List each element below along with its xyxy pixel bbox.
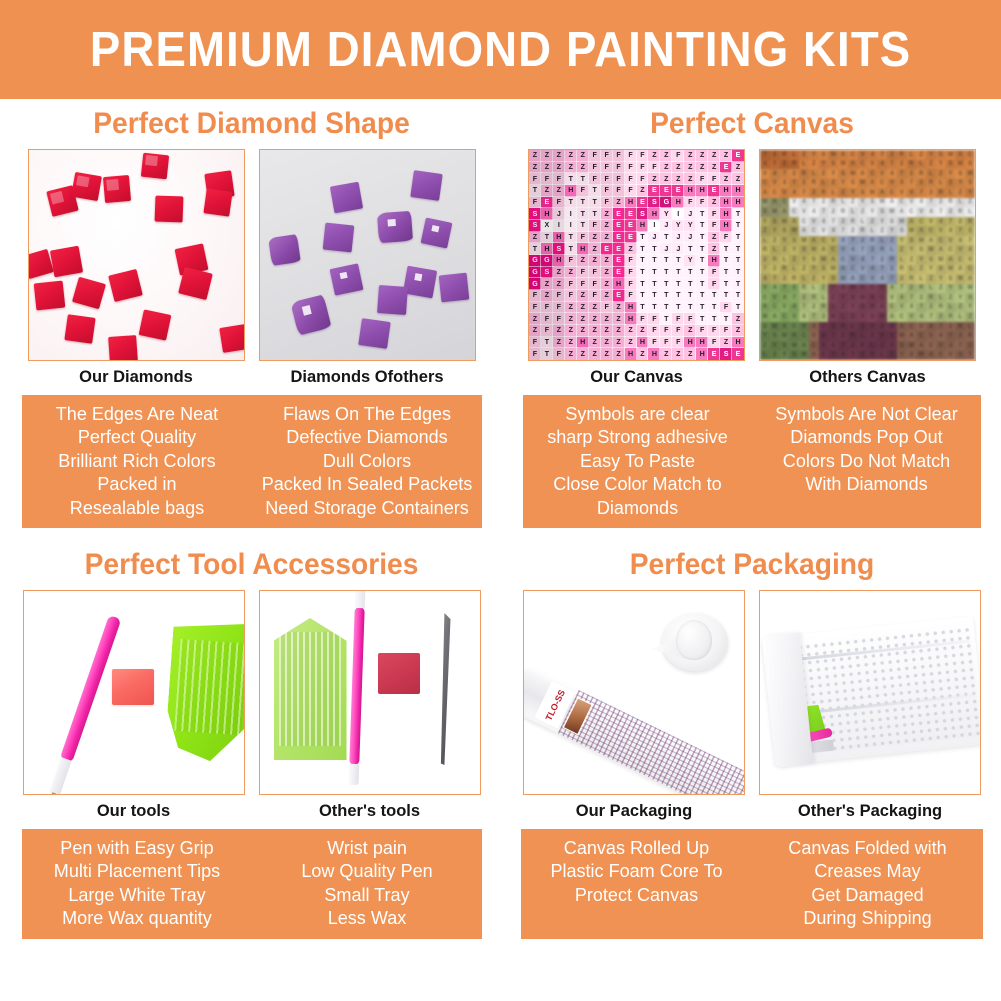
canvas-cell-blurred: V <box>867 274 877 284</box>
canvas-cell-blurred: Y <box>819 274 829 284</box>
canvas-cell-blurred: 4 <box>799 312 809 322</box>
canvas-cell: F <box>720 325 732 337</box>
canvas-cell-blurred: Y <box>867 207 877 217</box>
canvas-cell: F <box>625 173 637 185</box>
canvas-cell-blurred: C <box>887 303 897 313</box>
canvas-cell: J <box>672 232 684 244</box>
canvas-cell: E <box>613 208 625 220</box>
canvas-cell-blurred: R <box>819 303 829 313</box>
canvas-cell-blurred: Y <box>887 341 897 351</box>
canvas-cell-blurred: L <box>809 169 819 179</box>
canvas-cell-blurred: V <box>858 265 868 275</box>
section-tool-accessories: Perfect Tool Accessories <box>0 540 503 1001</box>
canvas-cell-blurred: M <box>838 160 848 170</box>
canvas-cell-blurred: Y <box>819 160 829 170</box>
canvas-cell: S <box>529 220 541 232</box>
canvas-cell-blurred: L <box>799 274 809 284</box>
canvas-cell-blurred: V <box>819 341 829 351</box>
canvas-cell-blurred: L <box>828 188 838 198</box>
canvas-cell: H <box>648 348 660 360</box>
canvas-cell-blurred: Y <box>848 303 858 313</box>
canvas-cell-blurred: 7 <box>936 322 946 332</box>
canvas-cell-blurred: Y <box>916 255 926 265</box>
canvas-cell: Z <box>601 348 613 360</box>
points-others-tools: Wrist pain Low Quality Pen Small Tray Le… <box>255 829 478 939</box>
canvas-cell: E <box>648 185 660 197</box>
canvas-cell-blurred: Y <box>780 236 790 246</box>
canvas-cell-blurred: C <box>965 150 975 160</box>
canvas-cell-blurred: L <box>760 236 770 246</box>
canvas-cell: T <box>637 278 649 290</box>
canvas-cell: S <box>541 267 553 279</box>
canvas-cell-blurred: R <box>936 303 946 313</box>
canvas-cell-blurred: M <box>887 322 897 332</box>
canvas-cell-blurred: 2 <box>916 179 926 189</box>
canvas-cell-blurred: R <box>809 293 819 303</box>
canvas-cell-blurred: L <box>897 255 907 265</box>
canvas-cell: T <box>684 267 696 279</box>
our-packaging-scene: TLO-SS <box>524 591 744 794</box>
canvas-cell: F <box>589 220 601 232</box>
canvas-cell-blurred: C <box>789 207 799 217</box>
canvas-cell-blurred: 7 <box>946 217 956 227</box>
canvas-cell-blurred: R <box>887 255 897 265</box>
canvas-cell-blurred: C <box>809 341 819 351</box>
canvas-cell-blurred: 4 <box>946 226 956 236</box>
canvas-cell: T <box>672 290 684 302</box>
canvas-cell: Z <box>565 337 577 349</box>
canvas-cell-blurred: A <box>907 331 917 341</box>
canvas-cell: F <box>529 348 541 360</box>
canvas-cell-blurred: Z <box>936 169 946 179</box>
canvas-cell-blurred: C <box>838 255 848 265</box>
canvas-cell-blurred: Y <box>877 217 887 227</box>
canvas-cell-blurred: 7 <box>780 284 790 294</box>
canvas-cell-blurred: M <box>848 284 858 294</box>
canvas-cell-blurred: V <box>916 207 926 217</box>
canvas-cell-blurred: 2 <box>819 198 829 208</box>
canvas-cell: T <box>648 267 660 279</box>
canvas-cell-blurred: 4 <box>770 284 780 294</box>
canvas-cell: Z <box>684 162 696 174</box>
canvas-cell: F <box>613 150 625 162</box>
canvas-cell: Z <box>732 173 744 185</box>
canvas-cell: J <box>684 208 696 220</box>
canvas-cell: F <box>601 150 613 162</box>
canvas-cell: F <box>577 185 589 197</box>
canvas-cell-blurred: Z <box>760 226 770 236</box>
canvas-cell-blurred: 7 <box>965 236 975 246</box>
canvas-cell-blurred: R <box>780 150 790 160</box>
canvas-cell-blurred: C <box>760 179 770 189</box>
canvas-cell-blurred: V <box>828 350 838 360</box>
canvas-cell: T <box>637 267 649 279</box>
canvas-cell-blurred: A <box>955 265 965 275</box>
canvas-cell-blurred: C <box>867 284 877 294</box>
canvas-cell-blurred: C <box>877 179 887 189</box>
canvas-cell-blurred: A <box>887 198 897 208</box>
canvas-cell: Z <box>577 313 589 325</box>
canvas-cell: T <box>696 278 708 290</box>
canvas-cell-blurred: V <box>780 188 790 198</box>
canvas-cell-blurred: 4 <box>926 207 936 217</box>
canvas-cell: E <box>613 267 625 279</box>
canvas-cell-blurred: Y <box>809 150 819 160</box>
canvas-cell: Z <box>732 325 744 337</box>
canvas-cell: Z <box>541 162 553 174</box>
canvas-cell: Z <box>625 243 637 255</box>
photo-pair-packaging: TLO-SS <box>503 590 1001 795</box>
canvas-cell: T <box>660 255 672 267</box>
canvas-cell: Y <box>684 255 696 267</box>
section-canvas: Perfect Canvas ZZZZZFFFFFZZFZZZZEZZZZZFF… <box>503 99 1001 535</box>
canvas-cell-blurred: Y <box>858 312 868 322</box>
canvas-cell: H <box>553 255 565 267</box>
canvas-cell-blurred: L <box>926 284 936 294</box>
canvas-cell-blurred: 7 <box>965 350 975 360</box>
canvas-cell-blurred: R <box>799 284 809 294</box>
canvas-cell-blurred: 7 <box>848 350 858 360</box>
canvas-cell: J <box>660 243 672 255</box>
canvas-cell: H <box>577 337 589 349</box>
canvas-cell-blurred: M <box>897 331 907 341</box>
canvas-cell: E <box>625 232 637 244</box>
canvas-cell-blurred: R <box>848 331 858 341</box>
canvas-cell: T <box>720 267 732 279</box>
canvas-cell-blurred: A <box>867 179 877 189</box>
canvas-cell: T <box>732 208 744 220</box>
canvas-cell-blurred: 7 <box>760 150 770 160</box>
canvas-cell: H <box>565 185 577 197</box>
canvas-cell-blurred: V <box>897 188 907 198</box>
canvas-cell-blurred: C <box>858 160 868 170</box>
canvas-cell-blurred: 2 <box>936 198 946 208</box>
canvas-cell: E <box>625 208 637 220</box>
canvas-cell: F <box>672 150 684 162</box>
canvas-cell: Y <box>672 220 684 232</box>
canvas-cell-blurred: 4 <box>877 160 887 170</box>
canvas-cell-blurred: Y <box>955 179 965 189</box>
canvas-cell: T <box>637 232 649 244</box>
canvas-cell-blurred: S <box>789 350 799 360</box>
canvas-cell-blurred: Z <box>877 226 887 236</box>
canvas-cell: F <box>708 325 720 337</box>
canvas-cell-blurred: R <box>838 207 848 217</box>
canvas-cell-blurred: S <box>887 331 897 341</box>
canvas-cell-blurred: 7 <box>789 293 799 303</box>
canvas-cell: T <box>732 255 744 267</box>
canvas-cell-blurred: M <box>760 312 770 322</box>
canvas-cell: T <box>708 302 720 314</box>
canvas-cell: H <box>637 220 649 232</box>
canvas-cell-blurred: A <box>838 150 848 160</box>
canvas-cell-blurred: S <box>819 265 829 275</box>
points-our-canvas: Symbols are clear sharp Strong adhesive … <box>526 395 748 528</box>
canvas-cell-blurred: 4 <box>819 217 829 227</box>
canvas-cell-blurred: V <box>867 160 877 170</box>
photo-our-tools <box>23 590 245 795</box>
canvas-cell: T <box>660 313 672 325</box>
canvas-cell: E <box>601 243 613 255</box>
canvas-cell-blurred: V <box>877 169 887 179</box>
canvas-cell-blurred: S <box>965 293 975 303</box>
canvas-cell: H <box>684 185 696 197</box>
canvas-cell-blurred: L <box>955 312 965 322</box>
bubble-mailer-envelope <box>762 616 981 765</box>
canvas-cell-blurred: R <box>916 284 926 294</box>
canvas-cell-blurred: Z <box>887 350 897 360</box>
canvas-cell-blurred: A <box>780 207 790 217</box>
canvas-cell-blurred: S <box>936 150 946 160</box>
canvas-cell: E <box>541 197 553 209</box>
canvas-cell-blurred: Z <box>789 255 799 265</box>
canvas-cell-blurred: V <box>946 350 956 360</box>
canvas-cell: F <box>625 150 637 162</box>
canvas-cell-blurred: S <box>867 198 877 208</box>
canvas-cell: Z <box>708 243 720 255</box>
canvas-cell: E <box>732 150 744 162</box>
canvas-cell-blurred: V <box>897 303 907 313</box>
canvas-cell: Z <box>529 162 541 174</box>
canvas-cell-blurred: C <box>828 245 838 255</box>
canvas-cell-blurred: L <box>848 207 858 217</box>
canvas-cell-blurred: Y <box>907 245 917 255</box>
canvas-cell: T <box>637 302 649 314</box>
canvas-cell-blurred: R <box>789 274 799 284</box>
canvas-cell-blurred: 4 <box>809 322 819 332</box>
canvas-cell-blurred: S <box>955 169 965 179</box>
canvas-cell-blurred: Z <box>780 245 790 255</box>
canvas-cell-blurred: 7 <box>858 245 868 255</box>
canvas-cell: X <box>541 220 553 232</box>
canvas-cell: Z <box>708 162 720 174</box>
canvas-cell: Z <box>589 337 601 349</box>
canvas-cell-blurred: 7 <box>799 303 809 313</box>
canvas-cell-blurred: V <box>887 179 897 189</box>
canvas-cell: S <box>720 348 732 360</box>
canvas-cell-blurred: S <box>867 312 877 322</box>
canvas-cell-blurred: M <box>780 217 790 227</box>
canvas-cell-blurred: Y <box>770 341 780 351</box>
canvas-cell-blurred: Y <box>848 188 858 198</box>
canvas-cell-blurred: L <box>965 207 975 217</box>
photo-our-diamonds <box>28 149 245 361</box>
canvas-cell-blurred: Z <box>877 341 887 351</box>
points-others-canvas: Symbols Are Not Clear Diamonds Pop Out C… <box>755 395 977 505</box>
canvas-cell: T <box>732 220 744 232</box>
canvas-cell-blurred: V <box>936 341 946 351</box>
canvas-cell-blurred: C <box>946 245 956 255</box>
canvas-cell-blurred: 2 <box>770 265 780 275</box>
caption-our-canvas: Our Canvas <box>528 368 745 387</box>
canvas-cell: F <box>613 173 625 185</box>
our-tools-scene <box>24 591 244 794</box>
photo-others-tools <box>259 590 481 795</box>
canvas-cell-blurred: 2 <box>955 217 965 227</box>
canvas-cell: F <box>589 267 601 279</box>
photo-our-canvas: ZZZZZFFFFFZZFZZZZEZZZZZFFFFFFZZZZZEZFFFT… <box>528 149 745 361</box>
canvas-cell: T <box>529 185 541 197</box>
canvas-cell: J <box>672 243 684 255</box>
canvas-cell: F <box>553 302 565 314</box>
canvas-cell-blurred: 7 <box>916 188 926 198</box>
canvas-cell: T <box>577 197 589 209</box>
canvas-cell-blurred: 2 <box>887 265 897 275</box>
canvas-cell-blurred: 2 <box>838 331 848 341</box>
canvas-cell-blurred: S <box>877 207 887 217</box>
canvas-cell: E <box>708 348 720 360</box>
canvas-cell-blurred: S <box>955 284 965 294</box>
canvas-cell-blurred: S <box>828 274 838 284</box>
canvas-cell: G <box>529 278 541 290</box>
canvas-cell: T <box>696 290 708 302</box>
drill-pen-pink-thin <box>349 607 365 765</box>
canvas-cell-blurred: 7 <box>877 265 887 275</box>
canvas-cell-blurred: V <box>907 312 917 322</box>
canvas-cell-blurred: 7 <box>907 293 917 303</box>
canvas-cell-blurred: A <box>858 169 868 179</box>
canvas-cell: T <box>720 313 732 325</box>
canvas-cell: T <box>732 302 744 314</box>
canvas-cell: F <box>553 313 565 325</box>
canvas-cell-blurred: 7 <box>819 207 829 217</box>
canvas-cell-blurred: M <box>799 350 809 360</box>
canvas-cell-blurred: Y <box>858 198 868 208</box>
canvas-cell-blurred: 7 <box>780 169 790 179</box>
canvas-cell-blurred: Y <box>799 255 809 265</box>
canvas-cell-blurred: L <box>848 322 858 332</box>
canvas-cell-blurred: 4 <box>858 255 868 265</box>
canvas-cell-blurred: 7 <box>848 236 858 246</box>
canvas-cell-blurred: L <box>907 265 917 275</box>
canvas-cell-blurred: L <box>789 265 799 275</box>
canvas-cell: Z <box>601 255 613 267</box>
canvas-cell: Z <box>708 197 720 209</box>
canvas-cell-blurred: C <box>955 255 965 265</box>
canvas-cell-blurred: R <box>897 265 907 275</box>
photo-others-packaging <box>759 590 981 795</box>
canvas-cell: F <box>577 267 589 279</box>
canvas-cell-blurred: C <box>760 293 770 303</box>
canvas-cell: F <box>601 173 613 185</box>
canvas-cell: F <box>529 337 541 349</box>
canvas-cell: Z <box>720 337 732 349</box>
canvas-cell: F <box>589 278 601 290</box>
canvas-cell-blurred: S <box>965 179 975 189</box>
canvas-cell: T <box>589 185 601 197</box>
canvas-cell-blurred: Z <box>946 293 956 303</box>
canvas-cell-blurred: S <box>946 274 956 284</box>
canvas-cell: T <box>720 243 732 255</box>
canvas-cell-blurred: M <box>780 331 790 341</box>
section-title-tool-accessories: Perfect Tool Accessories <box>15 540 488 582</box>
canvas-cell-blurred: L <box>926 169 936 179</box>
canvas-cell-blurred: L <box>809 284 819 294</box>
canvas-cell-blurred: R <box>936 188 946 198</box>
canvas-cell-blurred: Z <box>965 312 975 322</box>
canvas-cell: T <box>660 302 672 314</box>
canvas-cell-blurred: S <box>877 322 887 332</box>
canvas-cell: Z <box>684 325 696 337</box>
canvas-cell-blurred: 7 <box>809 312 819 322</box>
canvas-cell: Z <box>577 302 589 314</box>
canvas-cell: Z <box>732 162 744 174</box>
canvas-cell-blurred: 7 <box>789 179 799 189</box>
canvas-cell: S <box>637 208 649 220</box>
canvas-cell-blurred: A <box>789 331 799 341</box>
canvas-cell-blurred: C <box>907 322 917 332</box>
canvas-cell: F <box>672 337 684 349</box>
canvas-cell-blurred: 4 <box>780 179 790 189</box>
canvas-cell: T <box>637 255 649 267</box>
canvas-cell: F <box>589 162 601 174</box>
caption-pair-tools: Our tools Other's tools <box>0 802 503 821</box>
canvas-cell-blurred: 4 <box>809 207 819 217</box>
canvas-cell: Z <box>660 348 672 360</box>
canvas-cell: F <box>708 337 720 349</box>
foam-core-end-cap <box>652 609 730 675</box>
canvas-cell-blurred: C <box>877 293 887 303</box>
canvas-cell-blurred: Z <box>799 265 809 275</box>
canvas-cell-blurred: L <box>946 188 956 198</box>
canvas-cell-blurred: A <box>965 160 975 170</box>
canvas-cell-blurred: Z <box>936 284 946 294</box>
canvas-cell-blurred: M <box>828 265 838 275</box>
canvas-cell-blurred: R <box>809 179 819 189</box>
canvas-cell-blurred: Y <box>926 265 936 275</box>
canvas-cell-blurred: L <box>867 226 877 236</box>
canvas-cell-blurred: 4 <box>887 284 897 294</box>
canvas-cell: G <box>529 255 541 267</box>
canvas-cell-blurred: R <box>926 293 936 303</box>
canvas-cell-blurred: C <box>926 341 936 351</box>
canvas-cell-blurred: 2 <box>828 207 838 217</box>
caption-our-tools: Our tools <box>23 802 245 821</box>
canvas-cell: J <box>648 232 660 244</box>
canvas-cell: T <box>577 173 589 185</box>
canvas-cell-blurred: Y <box>789 245 799 255</box>
canvas-cell: H <box>625 313 637 325</box>
points-band-tools: Pen with Easy Grip Multi Placement Tips … <box>22 829 482 939</box>
canvas-cell: E <box>637 197 649 209</box>
canvas-cell-blurred: 2 <box>946 207 956 217</box>
canvas-cell: H <box>720 208 732 220</box>
canvas-cell: F <box>672 325 684 337</box>
canvas-cell-blurred: C <box>780 198 790 208</box>
canvas-cell-blurred: Y <box>965 303 975 313</box>
canvas-cell-blurred: R <box>907 160 917 170</box>
canvas-cell: F <box>613 185 625 197</box>
canvas-cell-blurred: C <box>809 226 819 236</box>
canvas-cell-blurred: 2 <box>907 284 917 294</box>
canvas-cell-blurred: 4 <box>897 293 907 303</box>
canvas-cell: T <box>696 267 708 279</box>
canvas-cell: H <box>696 337 708 349</box>
photo-pair-diamond-shape <box>0 149 503 361</box>
canvas-cell-blurred: 2 <box>789 169 799 179</box>
canvas-cell-blurred: Z <box>828 179 838 189</box>
canvas-cell-blurred: R <box>828 312 838 322</box>
canvas-cell-blurred: Z <box>760 341 770 351</box>
canvas-cell-blurred: Y <box>760 217 770 227</box>
rolled-canvas-tube: TLO-SS <box>523 665 745 795</box>
canvas-cell: Z <box>529 232 541 244</box>
canvas-cell-blurred: Z <box>799 150 809 160</box>
others-tools-scene <box>260 591 480 794</box>
canvas-cell-blurred: Z <box>955 188 965 198</box>
canvas-cell-blurred: V <box>858 150 868 160</box>
canvas-cell-blurred: 4 <box>946 341 956 351</box>
